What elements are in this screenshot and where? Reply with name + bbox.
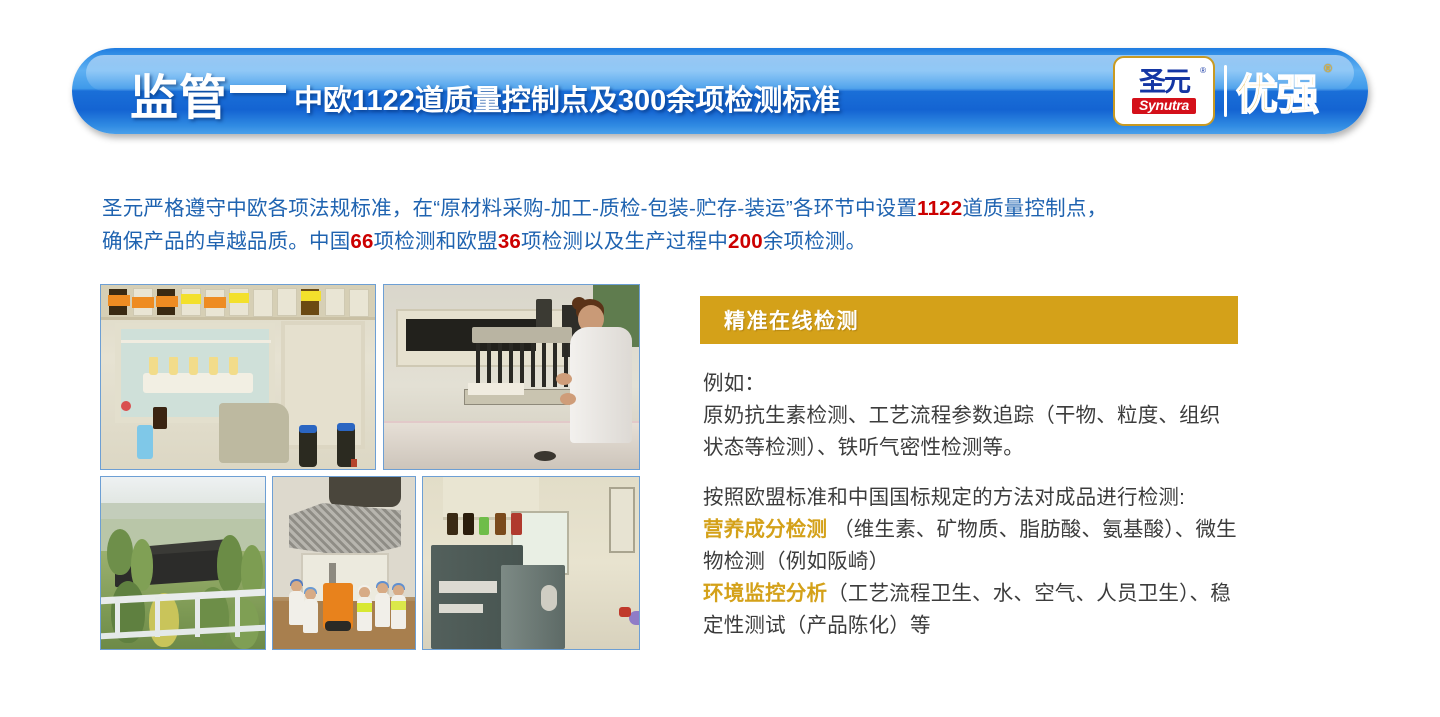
intro-line2-c: 项检测以及生产过程中	[521, 230, 728, 253]
banner-title-group: 监管 中欧1122道质量控制点及300余项检测标准	[130, 52, 840, 134]
registered-mark-icon: ®	[1200, 66, 1206, 75]
intro-number-36: 36	[498, 230, 521, 253]
logo-product-cn: 优强 ®	[1236, 61, 1318, 122]
panel-header-bar: 精准在线检测	[700, 296, 1238, 344]
intro-line2-b: 项检测和欧盟	[374, 230, 498, 253]
photo-factory-aerial	[100, 476, 266, 650]
intro-line1-a: 圣元严格遵守中欧各项法规标准，在“原材料采购-加工-质检-包装-贮存-装运”各环…	[102, 197, 917, 220]
intro-number-200: 200	[728, 230, 763, 253]
brand-logo: ® 圣元 Synutra 优强 ®	[1113, 56, 1318, 126]
panel-p1-line2: 原奶抗生素检测、工艺流程参数追踪（干物、粒度、组织	[703, 404, 1221, 427]
panel-p2-line4: （工艺流程卫生、水、空气、人员卫生）、稳	[827, 582, 1231, 605]
panel-p1-line3: 状态等检测）、铁听气密性检测等。	[703, 436, 1024, 459]
panel-paragraph-1: 例如： 原奶抗生素检测、工艺流程参数追踪（干物、粒度、组织 状态等检测）、铁听气…	[703, 368, 1343, 464]
panel-p2-line5: 定性测试（产品陈化）等	[703, 614, 931, 637]
photo-automated-analyzer	[383, 284, 640, 470]
panel-p2-line1: 按照欧盟标准和中国国标规定的方法对成品进行检测:	[703, 486, 1185, 509]
banner-subtitle: 中欧1122道质量控制点及300余项检测标准	[294, 77, 840, 119]
photo-lab-instrument	[422, 476, 640, 650]
banner-title: 监管	[130, 58, 228, 128]
panel-emphasis-nutrition: 营养成分检测	[703, 518, 827, 541]
panel-header-title: 精准在线检测	[724, 305, 859, 335]
panel-p2-line3: 物检测（例如阪崎）	[703, 550, 889, 573]
logo-synutra-box: ® 圣元 Synutra	[1113, 56, 1215, 126]
paragraph-spacer	[703, 464, 1343, 482]
intro-line2-d: 余项检测。	[763, 230, 867, 253]
intro-number-66: 66	[350, 230, 373, 253]
product-registered-mark-icon: ®	[1324, 63, 1331, 75]
intro-line2-a: 确保产品的卓越品质。中国	[102, 230, 350, 253]
header-banner: 监管 中欧1122道质量控制点及300余项检测标准 ® 圣元 Synutra 优…	[72, 48, 1368, 134]
intro-line1-b: 道质量控制点，	[962, 197, 1107, 220]
panel-paragraph-2: 按照欧盟标准和中国国标规定的方法对成品进行检测: 营养成分检测 （维生素、矿物质…	[703, 482, 1343, 642]
panel-p2-line2: （维生素、矿物质、脂肪酸、氨基酸）、微生	[833, 518, 1237, 541]
panel-emphasis-environment: 环境监控分析	[703, 582, 827, 605]
logo-brand-cn: 圣元	[1139, 69, 1189, 96]
photo-lab-fume-hood	[100, 284, 376, 470]
intro-paragraph: 圣元严格遵守中欧各项法规标准，在“原材料采购-加工-质检-包装-贮存-装运”各环…	[102, 192, 1322, 258]
intro-number-1122: 1122	[917, 197, 962, 220]
logo-product-label: 优强	[1236, 71, 1318, 118]
panel-p1-line1: 例如：	[703, 372, 765, 395]
photo-production-floor	[272, 476, 416, 650]
logo-divider-icon	[1224, 65, 1227, 117]
logo-brand-en: Synutra	[1132, 98, 1196, 114]
panel-body: 例如： 原奶抗生素检测、工艺流程参数追踪（干物、粒度、组织 状态等检测）、铁听气…	[703, 368, 1343, 642]
em-dash-icon	[230, 85, 286, 93]
